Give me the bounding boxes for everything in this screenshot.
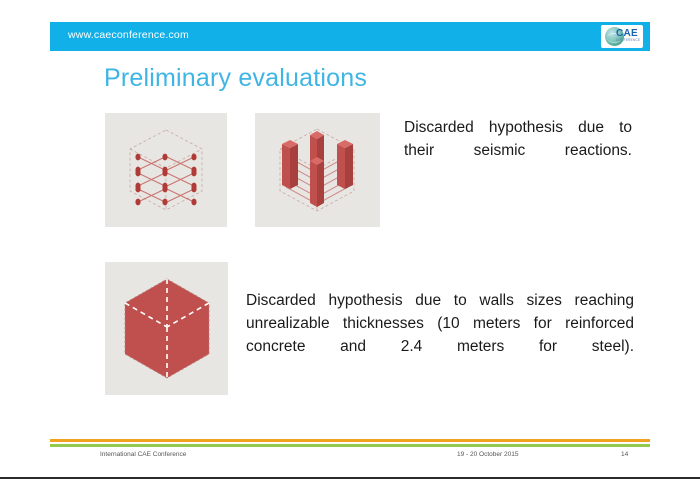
footer-page-number: 14 [621, 451, 628, 458]
figure-solid-cube [105, 262, 228, 395]
figure-vertical-columns-cube [255, 113, 380, 227]
columns-cube-icon [255, 113, 380, 227]
footer-conference-name: International CAE Conference [100, 451, 186, 458]
logo-subtext: CONFERENCE [616, 38, 640, 42]
solid-cube-icon [105, 262, 228, 395]
header-bar: www.caeconference.com CAE CONFERENCE [50, 22, 650, 51]
lattice-cube-icon [105, 113, 227, 227]
bottom-rule [0, 477, 700, 479]
paragraph-seismic: Discarded hypothesis due to their seismi… [404, 117, 632, 185]
footer-divider-orange [50, 439, 650, 442]
footer-date: 19 - 20 October 2015 [457, 451, 518, 458]
header-url[interactable]: www.caeconference.com [68, 29, 189, 41]
page-title: Preliminary evaluations [104, 64, 367, 93]
paragraph-walls: Discarded hypothesis due to walls sizes … [246, 290, 634, 381]
cae-logo[interactable]: CAE CONFERENCE [601, 25, 643, 48]
figure-lattice-cube-with-nodes [105, 113, 227, 227]
slide: www.caeconference.com CAE CONFERENCE Pre… [0, 0, 700, 478]
footer-divider-green [50, 444, 650, 447]
